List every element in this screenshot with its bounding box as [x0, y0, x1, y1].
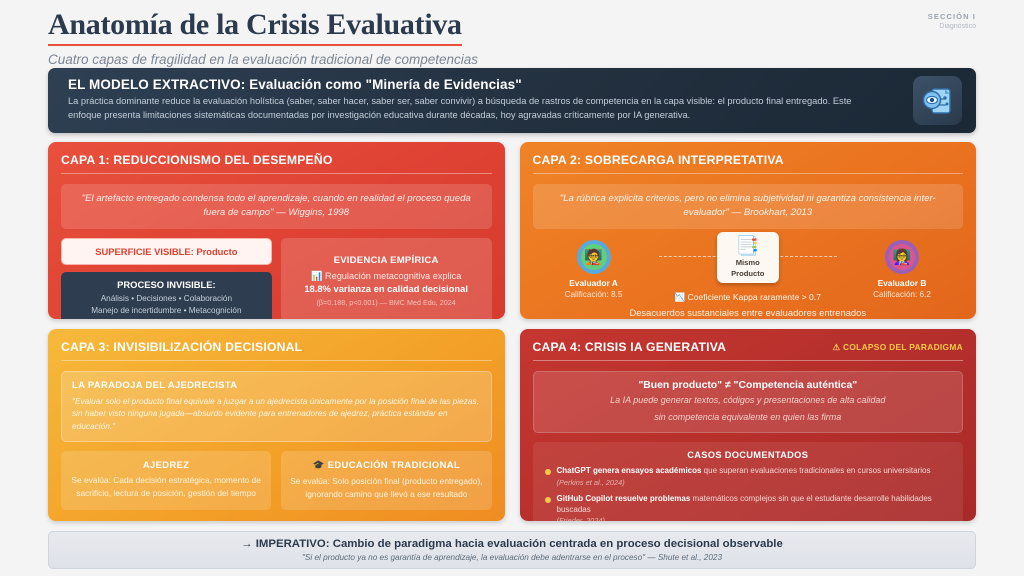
disagreement-text: Desacuerdos sustanciales entre evaluador…: [533, 307, 964, 318]
traditional-education-card-title-text: EDUCACIÓN TRADICIONAL: [328, 459, 460, 470]
graduation-cap-icon: 🎓: [313, 459, 325, 470]
list-item: GitHub Copilot resuelve problemas matemá…: [545, 494, 952, 521]
capa1-left-column: SUPERFICIE VISIBLE: Producto PROCESO INV…: [61, 238, 272, 319]
evaluator-a: 🧑‍🏫 Evaluador A Calificación: 8.5: [539, 240, 649, 299]
capa1-columns: SUPERFICIE VISIBLE: Producto PROCESO INV…: [61, 238, 492, 319]
capa1-title-text: CAPA 1: REDUCCIONISMO DEL DESEMPEÑO: [61, 153, 333, 167]
section-tag: SECCIÓN I Diagnóstico: [928, 12, 976, 30]
capa4-headline: "Buen producto" ≠ "Competencia auténtica…: [544, 380, 953, 391]
footer-quote: "Si el producto ya no es garantía de apr…: [302, 553, 722, 562]
evaluator-a-avatar-icon: 🧑‍🏫: [577, 240, 611, 274]
case-citation: (Perkins et al., 2024): [557, 478, 931, 488]
traditional-education-card-body: Se evalúa: Solo posición final (producto…: [287, 475, 485, 500]
bar-chart-icon: 📊: [311, 271, 322, 281]
infographic-root: Anatomía de la Crisis Evaluativa Cuatro …: [0, 0, 1024, 576]
documented-cases-box: CASOS DOCUMENTADOS ChatGPT genera ensayo…: [533, 442, 964, 521]
traditional-education-card-title: 🎓 EDUCACIÓN TRADICIONAL: [287, 459, 485, 471]
invisible-process-box: PROCESO INVISIBLE: Análisis • Decisiones…: [61, 272, 272, 319]
footer-headline: → IMPERATIVO: Cambio de paradigma hacia …: [241, 538, 783, 550]
imperative-footer: → IMPERATIVO: Cambio de paradigma hacia …: [48, 531, 976, 569]
page-subtitle: Cuatro capas de fragilidad en la evaluac…: [48, 52, 976, 67]
case-bold: ChatGPT genera ensayos académicos: [557, 466, 702, 475]
eye-document-icon: [913, 76, 962, 125]
paradox-title: LA PARADOJA DEL AJEDRECISTA: [72, 380, 481, 391]
product-label-line-1: Mismo: [721, 258, 775, 267]
capa4-title: CAPA 4: CRISIS IA GENERATIVA ⚠ COLAPSO D…: [533, 340, 964, 361]
panel-capa-1: CAPA 1: REDUCCIONISMO DEL DESEMPEÑO "El …: [48, 142, 505, 319]
evaluator-b-avatar-icon: 👩‍🏫: [885, 240, 919, 274]
evidence-citation: (β=0.188, p<0.001) — BMC Med Edu, 2024: [288, 298, 485, 307]
extractive-model-banner: EL MODELO EXTRACTIVO: Evaluación como "M…: [48, 68, 976, 133]
panel-capa-2: CAPA 2: SOBRECARGA INTERPRETATIVA "La rú…: [520, 142, 977, 319]
documents-check-icon: 📑: [721, 237, 775, 256]
capa4-sub-line-1: La IA puede generar textos, códigos y pr…: [544, 394, 953, 408]
paradigm-collapse-badge: ⚠ COLAPSO DEL PARADIGMA: [833, 342, 963, 352]
page-title: Anatomía de la Crisis Evaluativa: [48, 8, 462, 46]
evaluator-b-name: Evaluador B: [847, 278, 957, 288]
capa3-title: CAPA 3: INVISIBILIZACIÓN DECISIONAL: [61, 340, 492, 361]
traditional-education-card: 🎓 EDUCACIÓN TRADICIONAL Se evalúa: Solo …: [281, 451, 491, 509]
empirical-evidence-box: EVIDENCIA EMPÍRICA 📊 Regulación metacogn…: [281, 238, 492, 319]
capa4-sub-line-2: sin competencia equivalente en quien las…: [544, 411, 953, 425]
same-product-card: 📑 Mismo Producto: [717, 232, 779, 283]
invisible-process-line-2: Manejo de incertidumbre • Metacognición: [67, 305, 266, 317]
chess-card-body: Se evalúa: Cada decisión estratégica, mo…: [67, 474, 265, 499]
paradox-body: "Evaluar solo el producto final equivale…: [72, 395, 481, 432]
panel-capa-3: CAPA 3: INVISIBILIZACIÓN DECISIONAL LA P…: [48, 329, 505, 521]
page-header: Anatomía de la Crisis Evaluativa Cuatro …: [48, 0, 976, 60]
capa4-headline-box: "Buen producto" ≠ "Competencia auténtica…: [533, 371, 964, 433]
case-citation: (Frieder, 2024): [557, 516, 952, 521]
layers-grid: CAPA 1: REDUCCIONISMO DEL DESEMPEÑO "El …: [48, 142, 976, 521]
section-sublabel: Diagnóstico: [928, 23, 976, 30]
model-body: La práctica dominante reduce la evaluaci…: [68, 95, 866, 123]
capa3-title-text: CAPA 3: INVISIBILIZACIÓN DECISIONAL: [61, 340, 302, 354]
product-label-line-2: Producto: [721, 269, 775, 278]
surface-visible-pill: SUPERFICIE VISIBLE: Producto: [61, 238, 272, 265]
chess-card: AJEDREZ Se evalúa: Cada decisión estraté…: [61, 451, 271, 509]
warning-triangle-icon: ⚠: [833, 342, 841, 352]
capa3-comparison: AJEDREZ Se evalúa: Cada decisión estraté…: [61, 451, 492, 509]
bullet-dot-icon: [545, 497, 551, 503]
capa2-title: CAPA 2: SOBRECARGA INTERPRETATIVA: [533, 153, 964, 174]
case-bold: GitHub Copilot resuelve problemas: [557, 494, 691, 503]
chess-paradox-box: LA PARADOJA DEL AJEDRECISTA "Evaluar sol…: [61, 371, 492, 442]
evidence-line-1-text: Regulación metacognitiva explica: [325, 271, 461, 281]
evaluator-a-score: Calificación: 8.5: [539, 290, 649, 299]
evaluator-b-score: Calificación: 6.2: [847, 290, 957, 299]
capa1-quote: "El artefacto entregado condensa todo el…: [61, 184, 492, 229]
evaluator-b: 👩‍🏫 Evaluador B Calificación: 6.2: [847, 240, 957, 299]
case-text: GitHub Copilot resuelve problemas matemá…: [557, 494, 952, 521]
invisible-process-title: PROCESO INVISIBLE:: [67, 279, 266, 290]
evidence-line-1: 📊 Regulación metacognitiva explica: [288, 271, 485, 282]
capa2-title-text: CAPA 2: SOBRECARGA INTERPRETATIVA: [533, 153, 784, 167]
paradigm-collapse-badge-label: COLAPSO DEL PARADIGMA: [843, 342, 963, 352]
model-heading: EL MODELO EXTRACTIVO: Evaluación como "M…: [68, 77, 866, 92]
case-text: ChatGPT genera ensayos académicos que su…: [557, 466, 931, 488]
bullet-dot-icon: [545, 469, 551, 475]
capa2-quote: "La rúbrica explicita criterios, pero no…: [533, 184, 964, 229]
evaluators-row: 🧑‍🏫 Evaluador A Calificación: 8.5 📑 Mism…: [533, 240, 964, 302]
documented-cases-title: CASOS DOCUMENTADOS: [545, 450, 952, 460]
evaluator-a-name: Evaluador A: [539, 278, 649, 288]
list-item: ChatGPT genera ensayos académicos que su…: [545, 466, 952, 488]
capa4-title-text: CAPA 4: CRISIS IA GENERATIVA: [533, 340, 727, 354]
evidence-title: EVIDENCIA EMPÍRICA: [288, 255, 485, 266]
capa1-title: CAPA 1: REDUCCIONISMO DEL DESEMPEÑO: [61, 153, 492, 174]
section-label: SECCIÓN I: [928, 12, 976, 21]
panel-capa-4: CAPA 4: CRISIS IA GENERATIVA ⚠ COLAPSO D…: [520, 329, 977, 521]
evidence-line-2: 18.8% varianza en calidad decisional: [288, 283, 485, 294]
case-rest: que superan evaluaciones tradicionales e…: [701, 466, 930, 475]
chess-card-title: AJEDREZ: [67, 459, 265, 470]
invisible-process-line-1: Análisis • Decisiones • Colaboración: [67, 293, 266, 305]
